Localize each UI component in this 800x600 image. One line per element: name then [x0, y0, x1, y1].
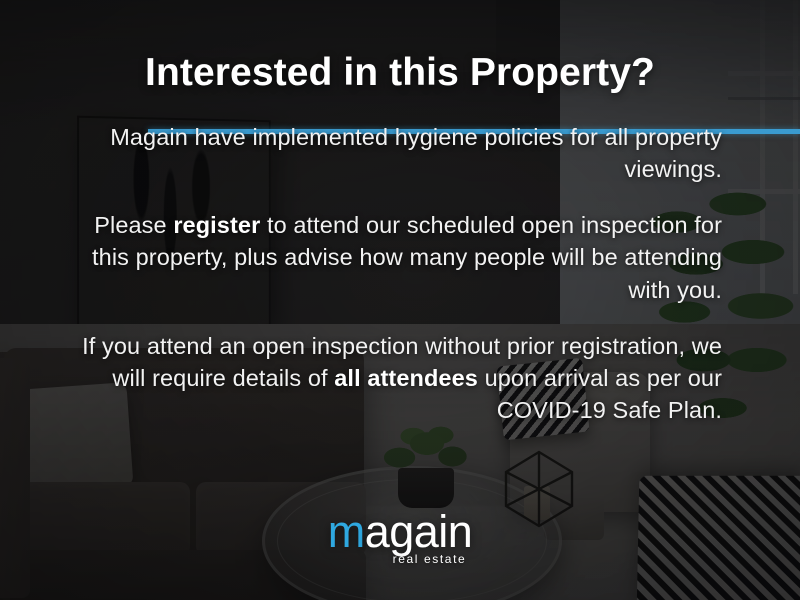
logo-tagline: real estate [393, 552, 467, 566]
property-inspection-poster: Interested in this Property? Magain have… [0, 0, 800, 600]
logo-remainder: again [365, 506, 473, 557]
body-copy: Magain have implemented hygiene policies… [78, 121, 722, 427]
paragraph-covid-safe-plan: If you attend an open inspection without… [78, 330, 722, 427]
brand-logo: magain real estate [0, 509, 800, 566]
paragraph-hygiene-policy: Magain have implemented hygiene policies… [78, 121, 722, 185]
body-text: upon arrival as per our COVID-19 Safe Pl… [478, 365, 722, 423]
emphasis-text: register [173, 212, 260, 238]
page-title: Interested in this Property? [78, 52, 722, 95]
body-text: Magain have implemented hygiene policies… [110, 124, 722, 182]
body-text: Please [94, 212, 173, 238]
paragraph-register-request: Please register to attend our scheduled … [78, 209, 722, 306]
logo-lockup: magain real estate [328, 509, 473, 566]
emphasis-text: all attendees [334, 365, 478, 391]
poster-content: Interested in this Property? Magain have… [0, 0, 800, 600]
logo-wordmark: magain [328, 509, 473, 554]
logo-initial: m [328, 506, 365, 557]
